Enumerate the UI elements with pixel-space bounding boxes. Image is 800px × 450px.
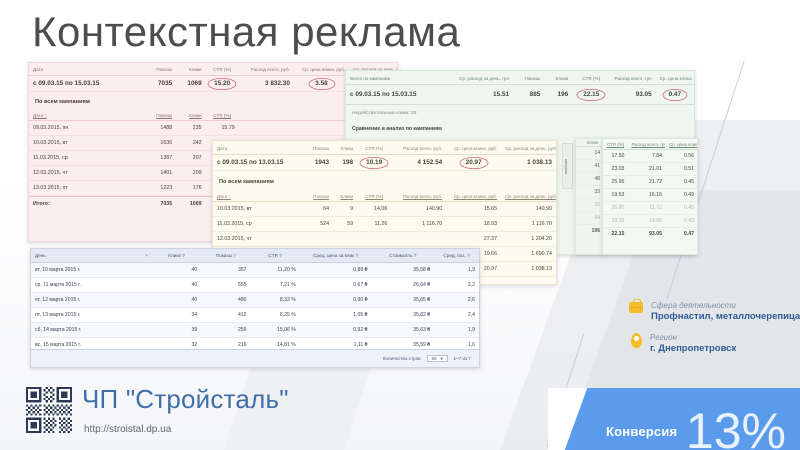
cell-cpc: 0.51: [665, 163, 697, 176]
cell-ctr-total: 22.15: [603, 228, 627, 240]
info-industry-value: Профнастил, металлочерепица: [651, 311, 800, 323]
cream-header-row: Дата Показы Клики CTR (%) Расход всего, …: [213, 141, 556, 155]
cream-col-clicks: Клики: [333, 141, 357, 155]
ctr-ellipse-annotation: [207, 77, 237, 90]
cell-ctr: 11,20 %: [250, 263, 299, 278]
qr-code-icon: [26, 387, 72, 433]
cream-total-daily: 1 038.13: [501, 155, 556, 171]
green-total-daily: 15.51: [450, 85, 513, 105]
cell-avgpos: 2,2: [434, 278, 479, 293]
cell-ctr: 26.80: [603, 202, 627, 215]
chevron-down-icon[interactable]: ▼: [440, 356, 444, 361]
cell-date: 10.03.2015, вт: [29, 136, 143, 151]
cell-impr: 64: [302, 202, 333, 217]
cell-cpc: 18.93: [446, 217, 501, 232]
cell-ctr: 8,25 %: [250, 308, 299, 323]
cell-clicks: [333, 232, 357, 247]
cream-total-clicks: 198: [333, 155, 357, 171]
cell-avgpos: 2,6: [434, 293, 479, 308]
cell-cost: 14.60: [627, 215, 665, 228]
cell-avgpos: 2,4: [434, 308, 479, 323]
cell-cost-total: 93.05: [627, 228, 665, 240]
lbl: Сред. поз.: [443, 253, 465, 258]
cream-sub-col-ctr[interactable]: CTR (%): [357, 189, 391, 202]
help-icon[interactable]: ?: [279, 253, 282, 258]
cream-sub-header-row: Дата ↑ Показы Клики CTR (%) Расход всего…: [213, 189, 556, 202]
cream-sub-col-cost[interactable]: Расход всего, руб.: [391, 189, 446, 202]
cell-day: сб, 14 марта 2015 г.: [31, 323, 152, 338]
cell-impr: 1636: [143, 136, 176, 151]
cell-avgpos: 1,9: [434, 323, 479, 338]
cell-cost: 35,58 ₴: [371, 263, 434, 278]
cell-daily: 1 116.70: [501, 217, 556, 232]
strip-row: 48: [576, 173, 602, 186]
cell-day: ср, 11 марта 2015 г.: [31, 278, 152, 293]
cell-itogo-clicks: 1069: [176, 196, 205, 211]
greenlist-header-row: CTR (%) Расход всего, грн Ср. цена клика…: [603, 139, 697, 150]
cell-clicks: 209: [176, 166, 205, 181]
cell-clicks: 14: [576, 147, 602, 160]
cell-cost: [391, 232, 446, 247]
analytics-table-footer: Количество строк: 50 ▼ 1–7 из 7: [31, 349, 479, 367]
cell-clicks: 48: [576, 173, 602, 186]
greenlist-col-cpc[interactable]: Ср. цена клика, грн: [665, 139, 697, 150]
cell-cpc: 0,90 ₴: [300, 293, 372, 308]
pink-sub-header-row: Дата ↑ Показы Клики CTR (%): [29, 109, 397, 121]
info-row-industry: Сфера деятельности Профнастил, металлоче…: [629, 300, 799, 323]
conversion-label: Конверсия: [606, 424, 677, 439]
cell-clicks: 26: [576, 199, 602, 212]
green-col-cpc: Ср. цена клика, грн: [656, 71, 694, 85]
lbl: Стоимость: [389, 253, 412, 258]
conversion-banner: Конверсия 13%: [548, 388, 800, 450]
cream-sub-col-cpc[interactable]: Ср. цена клика, руб.: [446, 189, 501, 202]
help-icon[interactable]: ?: [356, 253, 359, 258]
cell-ctr: 23.03: [603, 163, 627, 176]
cell-ctr: 8,33 %: [250, 293, 299, 308]
cell-date: 11.03.2015, ср: [29, 151, 143, 166]
info-region-text: Регион г. Днепропетровск: [650, 332, 736, 355]
cell-ctr: 15,06 %: [250, 323, 299, 338]
cream-sub-col-clicks[interactable]: Клики: [333, 189, 357, 202]
cell-cpc: 0,67 ₴: [300, 278, 372, 293]
cell-day: чт, 12 марта 2015 г.: [31, 293, 152, 308]
cell-cpc: 0.45: [665, 202, 697, 215]
green-col-cost: Расход всего, грн: [610, 71, 655, 85]
pink-total-date: с 09.03.15 по 15.03.15: [29, 76, 143, 92]
cell-cpc-total: 0.47: [665, 228, 697, 240]
cream-total-impr: 1943: [302, 155, 333, 171]
cell-daily: 140.90: [501, 202, 556, 217]
cell-date: 12.03.2015, чт: [29, 166, 143, 181]
pink-col-cpc: Ср. цена клика, руб.: [294, 63, 349, 76]
cell-ctr: 17.50: [603, 150, 627, 163]
cell-daily: 1 038.13: [501, 262, 556, 277]
cell-daily: 1 690.74: [501, 247, 556, 262]
cell-clicks: 40: [152, 278, 201, 293]
cell-cost: 35,82 ₴: [371, 308, 434, 323]
sort-asc-icon[interactable]: +: [145, 253, 148, 258]
analytics-col-cpc[interactable]: Сред. цена за клик ?: [300, 249, 372, 263]
cell-cpc: 0,92 ₴: [300, 323, 372, 338]
green-total-cost: 93.05: [610, 85, 655, 105]
cell-impr: 1488: [143, 121, 176, 136]
lbl: CTR: [268, 253, 278, 258]
cell-ctr: 25.95: [603, 176, 627, 189]
cell-impr: 1387: [143, 151, 176, 166]
green-total-impr: 885: [513, 85, 544, 105]
info-region-label: Регион: [650, 332, 736, 343]
cell-cost: 16.16: [627, 189, 665, 202]
table-row: вт, 10 марта 2015 г. 40 357 11,20 % 0,89…: [31, 263, 479, 278]
pink-total-clicks: 1069: [176, 76, 205, 92]
pink-sub-col-ctr[interactable]: CTR (%): [206, 109, 239, 121]
cell-clicks: 40: [152, 293, 201, 308]
greenlist-col-cost[interactable]: Расход всего, грн: [627, 139, 665, 150]
cream-total-cost: 4 152.54: [391, 155, 446, 171]
analytics-col-day[interactable]: День +: [31, 249, 152, 263]
cell-ctr: 7,21 %: [250, 278, 299, 293]
cream-cpc-ellipse-annotation: [459, 156, 489, 169]
cell-cost: 1 116.70: [391, 217, 446, 232]
cell-cpc: 0.49: [665, 189, 697, 202]
cell-day: пт, 13 марта 2015 г.: [31, 308, 152, 323]
info-block: Сфера деятельности Профнастил, металлоче…: [629, 300, 799, 364]
green-col-daily: Ср. расход за день, грн: [450, 71, 513, 85]
cell-impr: 357: [201, 263, 250, 278]
cream-total-ctr: 10.19: [357, 155, 391, 171]
cell-clicks: 40: [152, 263, 201, 278]
green-header-row: Всего по кампании Ср. расход за день, гр…: [346, 71, 694, 85]
cell-date: 11.03.2015, ср: [213, 217, 302, 232]
briefcase-icon: [629, 302, 643, 313]
table-row: 09.03.2015, пн 1488 235 15.79: [29, 121, 397, 136]
rows-per-page-label: Количество строк:: [383, 356, 422, 361]
cell-cpc: 1,05 ₴: [300, 308, 372, 323]
green-ctr-ellipse-annotation: [576, 88, 606, 101]
metrika-side-tab[interactable]: метрика: [562, 143, 573, 189]
green-col-clicks: Клики: [544, 71, 572, 85]
cell-impr: 555: [201, 278, 250, 293]
cream-col-impr: Показы: [302, 141, 333, 155]
cell-cost: 21.01: [627, 163, 665, 176]
table-row: сб, 14 марта 2015 г. 39 259 15,06 % 0,92…: [31, 323, 479, 338]
pink-col-date: Дата: [29, 63, 143, 76]
map-pin-icon: [631, 333, 642, 348]
table-row: пт, 13 марта 2015 г. 34 412 8,25 % 1,05 …: [31, 308, 479, 323]
cream-total-date: с 09.03.15 по 13.03.15: [213, 155, 302, 171]
table-row: 17.50 7.84 0.56: [603, 150, 697, 163]
cell-ctr: 15.79: [206, 121, 239, 136]
analytics-col-impr[interactable]: Показы ?: [201, 249, 250, 263]
help-icon[interactable]: ?: [233, 253, 236, 258]
cell-daily: 1 204.20: [501, 232, 556, 247]
table-row: 26.80 11.72 0.45: [603, 202, 697, 215]
green-total-ctr: 22.15: [572, 85, 610, 105]
strip-row: 14: [576, 147, 602, 160]
green-total-cpc: 0.47: [656, 85, 694, 105]
strip-col-clicks: Клики: [576, 139, 602, 147]
pink-total-row: с 09.03.15 по 15.03.15 7035 1069 15.20 3…: [29, 76, 397, 92]
cream-sub-col-daily[interactable]: Ср. расход за день, руб.: [501, 189, 556, 202]
cell-clicks: 9: [333, 202, 357, 217]
slide-root: Контекстная реклама Дата Показы Клики CT…: [0, 0, 800, 450]
cell-clicks: 207: [176, 151, 205, 166]
rows-per-page-value: 50: [431, 356, 436, 361]
green-invalid-clicks-note: Недействительные клики: 29: [346, 105, 694, 120]
table-row: ср, 11 марта 2015 г. 40 555 7,21 % 0,67 …: [31, 278, 479, 293]
green-total-campaign: с 09.03.15 по 15.03.15: [346, 85, 450, 105]
analytics-table-card: День + Клики ? Показы ? CTR ? Сред. цена…: [30, 248, 480, 368]
cream-total-row: с 09.03.15 по 13.03.15 1943 198 10.19 4 …: [213, 155, 556, 171]
cell-ctr: 11.26: [357, 217, 391, 232]
table-row: 25.95 21.72 0.45: [603, 176, 697, 189]
table-row: чт, 12 марта 2015 г. 40 480 8,33 % 0,90 …: [31, 293, 479, 308]
cell-cost: 26,64 ₴: [371, 278, 434, 293]
cell-date: 10.03.2015, вт: [213, 202, 302, 217]
cell-cost: 140.90: [391, 202, 446, 217]
pink-total-cost: 3 832.30: [239, 76, 294, 92]
strip-row: 26: [576, 199, 602, 212]
cell-clicks: 33: [576, 186, 602, 199]
cell-avgpos: 1,9: [434, 263, 479, 278]
cell-ctr: 14.06: [357, 202, 391, 217]
cell-cost: 7.84: [627, 150, 665, 163]
lbl: Сред. цена за клик: [313, 253, 354, 258]
page-title: Контекстная реклама: [32, 8, 460, 56]
table-row: 10.03.2015, вт 64 9 14.06 140.90 15.65 1…: [213, 202, 556, 217]
cell-cost: 35,65 ₴: [371, 293, 434, 308]
conversion-value: 13%: [686, 406, 786, 450]
cell-impr: 524: [302, 217, 333, 232]
cell-clicks: 34: [152, 308, 201, 323]
cell-clicks: 242: [176, 136, 205, 151]
cell-date: 09.03.2015, пн: [29, 121, 143, 136]
analytics-col-clicks[interactable]: Клики ?: [152, 249, 201, 263]
cell-day: вт, 10 марта 2015 г.: [31, 263, 152, 278]
cpc-ellipse-annotation: [308, 77, 336, 90]
cell-clicks: 41: [576, 160, 602, 173]
pink-col-ctr: CTR (%): [206, 63, 239, 76]
cell-cost: 35,63 ₴: [371, 323, 434, 338]
strip-row: 34: [576, 212, 602, 225]
pink-sub-col-clicks[interactable]: Клики: [176, 109, 205, 121]
cell-clicks: 176: [176, 181, 205, 196]
cell-cpc: 0.43: [665, 215, 697, 228]
pink-sub-col-date[interactable]: Дата ↑: [29, 109, 143, 121]
strip-header: Клики: [576, 139, 602, 147]
rows-per-page-select[interactable]: 50 ▼: [427, 355, 447, 362]
cell-itogo-impr: 7035: [143, 196, 176, 211]
green-clicks-strip: Клики 14 41 48 33 26 34 196: [575, 138, 603, 255]
table-row: 12.03.2015, чт 27.37 1 204.20: [213, 232, 556, 247]
table-row: 11.03.2015, ср 524 59 11.26 1 116.70 18.…: [213, 217, 556, 232]
analytics-header-row: День + Клики ? Показы ? CTR ? Сред. цена…: [31, 249, 479, 263]
pink-header-row: Дата Показы Клики CTR (%) Расход всего, …: [29, 63, 397, 76]
cell-cost: 11.72: [627, 202, 665, 215]
cream-col-cost: Расход всего, руб.: [391, 141, 446, 155]
cell-clicks: 235: [176, 121, 205, 136]
cell-cost: 21.72: [627, 176, 665, 189]
cream-sub-col-date[interactable]: Дата ↑: [213, 189, 302, 202]
cream-col-daily: Ср. расход за день, руб.: [501, 141, 556, 155]
cream-col-date: Дата: [213, 141, 302, 155]
table-row: 23.03 21.01 0.51: [603, 163, 697, 176]
green-total-clicks: 196: [544, 85, 572, 105]
strip-row: 33: [576, 186, 602, 199]
green-col-campaign: Всего по кампании: [346, 71, 450, 85]
pink-col-impr: Показы: [143, 63, 176, 76]
cell-date: 13.03.2015, пт: [29, 181, 143, 196]
cell-cpc: 0.45: [665, 176, 697, 189]
green-detail-table: CTR (%) Расход всего, грн Ср. цена клика…: [602, 138, 698, 255]
pink-col-clicks: Клики: [176, 63, 205, 76]
cell-impr: 1223: [143, 181, 176, 196]
green-total-row: с 09.03.15 по 15.03.15 15.51 885 196 22.…: [346, 85, 694, 105]
strip-total-row: 196: [576, 225, 602, 237]
cream-ctr-ellipse-annotation: [359, 156, 389, 169]
lbl: Клики: [168, 253, 181, 258]
cell-clicks: 59: [333, 217, 357, 232]
help-icon[interactable]: ?: [467, 253, 470, 258]
analytics-col-cost[interactable]: Стоимость ?: [371, 249, 434, 263]
analytics-col-day-label: День: [35, 253, 46, 258]
green-col-ctr: CTR (%): [572, 71, 610, 85]
cell-ctr: 19.53: [603, 189, 627, 202]
analytics-col-avgpos[interactable]: Сред. поз. ?: [434, 249, 479, 263]
pink-total-impr: 7035: [143, 76, 176, 92]
cream-col-cpc: Ср. цена клика, руб.: [446, 141, 501, 155]
cell-impr: 412: [201, 308, 250, 323]
cell-impr: 480: [201, 293, 250, 308]
greenlist-total-row: 22.15 93.05 0.47: [603, 228, 697, 240]
cell-cpc: 0.56: [665, 150, 697, 163]
cell-date: 12.03.2015, чт: [213, 232, 302, 247]
cell-impr: 259: [201, 323, 250, 338]
table-row: 19.32 14.60 0.43: [603, 215, 697, 228]
brand-name: ЧП "Стройсталь": [82, 384, 289, 415]
cell-cpc: 27.37: [446, 232, 501, 247]
cell-clicks: 39: [152, 323, 201, 338]
cream-col-ctr: CTR (%): [357, 141, 391, 155]
pink-sub-col-impr[interactable]: Показы: [143, 109, 176, 121]
brand-url[interactable]: http://stroistal.dp.ua: [84, 424, 171, 435]
analytics-col-ctr[interactable]: CTR ?: [250, 249, 299, 263]
info-row-region: Регион г. Днепропетровск: [629, 332, 799, 355]
help-icon[interactable]: ?: [182, 253, 185, 258]
cell-impr: [302, 232, 333, 247]
strip-row: 41: [576, 160, 602, 173]
info-industry-text: Сфера деятельности Профнастил, металлоче…: [651, 300, 800, 323]
cell-ctr: [357, 232, 391, 247]
cream-sub-col-impr[interactable]: Показы: [302, 189, 333, 202]
info-industry-label: Сфера деятельности: [651, 300, 800, 311]
cell-cpc: 0,89 ₴: [300, 263, 372, 278]
pink-total-cpc: 3.58: [294, 76, 349, 92]
pink-total-ctr: 15.20: [206, 76, 239, 92]
cell-clicks-total: 196: [576, 225, 602, 237]
table-row: 19.53 16.16 0.49: [603, 189, 697, 202]
cream-total-cpc: 20.97: [446, 155, 501, 171]
cell-cpc: 15.65: [446, 202, 501, 217]
pink-section-title: По всем кампаниям: [29, 92, 397, 109]
cell-itogo-label: Итого:: [29, 196, 143, 211]
pink-col-cost: Расход всего, руб.: [239, 63, 294, 76]
cream-section-title: По всем кампаниям: [213, 171, 556, 189]
lbl: Показы: [216, 253, 232, 258]
info-region-value: г. Днепропетровск: [650, 343, 736, 355]
cell-ctr: 19.32: [603, 215, 627, 228]
green-compare-title: Сравнение и анализ по кампаниям: [346, 120, 694, 134]
cell-clicks: 34: [576, 212, 602, 225]
cell-impr: 1401: [143, 166, 176, 181]
help-icon[interactable]: ?: [414, 253, 417, 258]
pagination-range: 1–7 из 7: [454, 356, 471, 361]
greenlist-col-ctr[interactable]: CTR (%): [603, 139, 627, 150]
green-col-impr: Показы: [513, 71, 544, 85]
green-cpc-ellipse-annotation: [662, 88, 688, 101]
